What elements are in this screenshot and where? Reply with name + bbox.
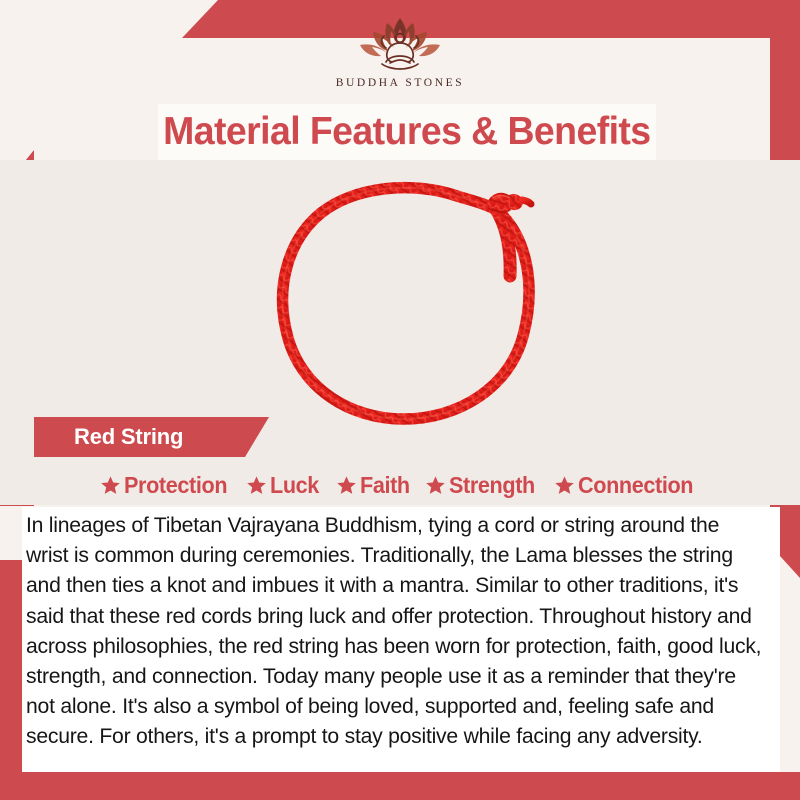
star-icon [425, 475, 446, 496]
benefit-label: Strength [449, 472, 535, 499]
benefit-item-faith: Faith [336, 472, 413, 499]
material-label-banner: Red String [34, 417, 269, 457]
benefit-label: Faith [360, 472, 410, 499]
benefit-label: Connection [578, 472, 693, 499]
benefit-label: Luck [270, 472, 319, 499]
benefit-item-luck: Luck [246, 472, 322, 499]
star-icon [336, 475, 357, 496]
page-title: Material Features & Benefits [163, 110, 650, 154]
star-icon [246, 475, 267, 496]
benefits-list: Protection Luck Faith Strength Connectio… [0, 466, 800, 504]
benefit-item-protection: Protection [100, 472, 234, 499]
page-title-band: Material Features & Benefits [158, 104, 656, 160]
benefit-item-connection: Connection [554, 472, 701, 499]
benefit-label: Protection [124, 472, 227, 499]
description-text: In lineages of Tibetan Vajrayana Buddhis… [26, 510, 763, 752]
red-string-bracelet-icon [245, 168, 575, 430]
brand-name: BUDDHA STONES [336, 77, 464, 89]
star-icon [554, 475, 575, 496]
infographic-card: BUDDHA STONES Material Features & Benefi… [0, 0, 800, 800]
star-icon [100, 475, 121, 496]
bottom-red-band-decoration [0, 772, 800, 800]
lotus-meditation-figure-icon [340, 12, 460, 74]
benefit-item-strength: Strength [425, 472, 540, 499]
brand-logo: BUDDHA STONES [0, 12, 800, 89]
material-label: Red String [74, 424, 183, 450]
